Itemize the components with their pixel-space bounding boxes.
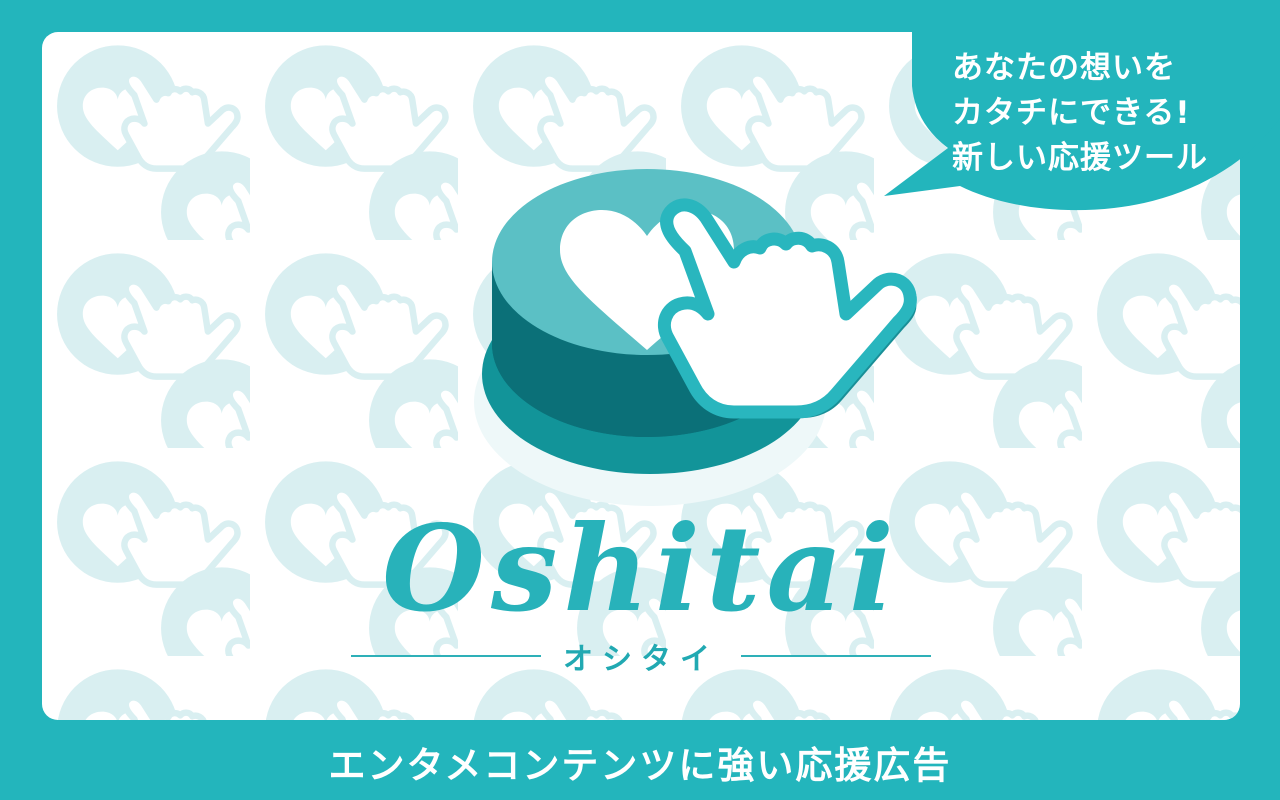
key-visual-stage: Oshitai オシタイ あなたの想いを カタチにできる! 新しい応援ツール エ… <box>0 0 1280 800</box>
logo-block: Oshitai オシタイ <box>42 510 1240 678</box>
kana-subtitle-row: オシタイ <box>42 634 1240 678</box>
white-card: Oshitai オシタイ <box>42 32 1240 720</box>
bottom-banner-text: エンタメコンテンツに強い応援広告 <box>329 735 952 789</box>
rule-right <box>741 655 931 657</box>
rule-left <box>351 655 541 657</box>
wordmark-oshitai: Oshitai <box>42 510 1240 628</box>
hand-pointer-icon <box>664 205 910 412</box>
kana-subtitle: オシタイ <box>563 634 719 678</box>
hero-illustration <box>472 152 972 512</box>
bottom-banner: エンタメコンテンツに強い応援広告 <box>0 724 1280 800</box>
